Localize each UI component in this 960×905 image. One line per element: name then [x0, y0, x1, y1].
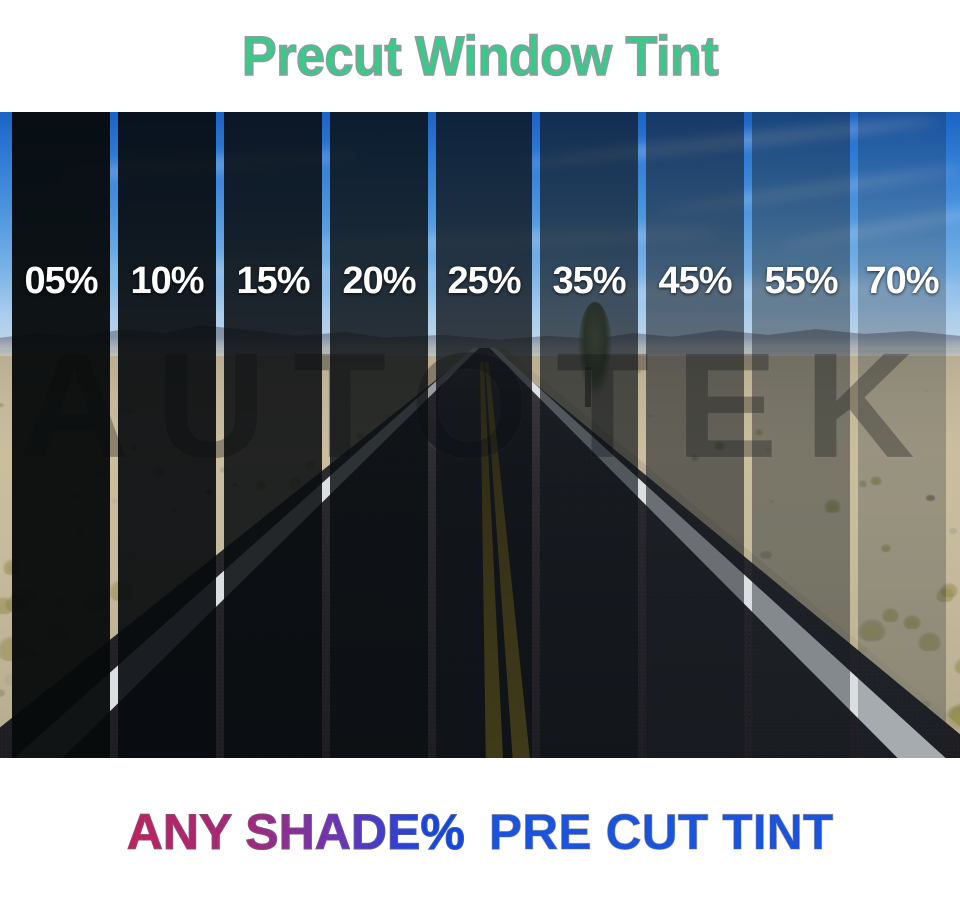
desert-scrub [859, 480, 867, 486]
desert-scrub [126, 408, 132, 413]
footer-banner: ANY SHADE%PRE CUT TINT [0, 758, 960, 905]
roadside-tree-trunk [585, 367, 591, 407]
desert-scrub [81, 592, 108, 613]
desert-scrub [255, 480, 268, 490]
desert-road-photo [0, 112, 960, 758]
footer-tagline: ANY SHADE%PRE CUT TINT [127, 807, 833, 857]
page-title: Precut Window Tint [242, 28, 718, 84]
desert-scrub [305, 461, 316, 470]
desert-scrub [755, 429, 762, 435]
desert-gravel [126, 552, 137, 559]
roadside-tree [578, 302, 612, 398]
desert-scrub [288, 477, 303, 489]
desert-gravel [172, 510, 177, 514]
desert-gravel [766, 448, 771, 452]
desert-scrub [870, 476, 882, 486]
desert-scrub [824, 499, 841, 512]
desert-scrub [918, 632, 941, 651]
desert-scrub [131, 445, 138, 450]
footer-pre-cut-text: PRE CUT TINT [471, 804, 833, 860]
tint-comparison-photo: AUTOTEK 05%10%15%20%25%35%45%55%70% [0, 112, 960, 758]
sky-layer [0, 112, 960, 350]
desert-scrub [882, 608, 899, 622]
desert-gravel [4, 674, 19, 685]
desert-scrub [5, 595, 26, 612]
desert-scrub [940, 583, 957, 597]
desert-scrub [75, 528, 85, 536]
desert-scrub [858, 619, 886, 642]
desert-scrub [0, 403, 4, 407]
desert-scrub [153, 467, 164, 475]
desert-scrub [954, 658, 960, 674]
desert-scrub [714, 441, 725, 450]
desert-gravel [30, 596, 40, 603]
desert-gravel [926, 495, 934, 501]
desert-scrub [47, 624, 70, 643]
desert-gravel [27, 649, 39, 657]
desert-scrub [637, 370, 641, 373]
desert-scrub [95, 468, 108, 479]
desert-gravel [220, 467, 227, 472]
desert-scrub [70, 490, 85, 502]
desert-scrub [55, 596, 67, 606]
desert-scrub [0, 636, 29, 661]
desert-gravel [205, 490, 212, 495]
footer-any-shade-text: ANY SHADE% [127, 804, 471, 860]
desert-gravel [232, 483, 238, 487]
desert-gravel [760, 551, 772, 559]
desert-scrub [881, 544, 891, 552]
desert-scrub [903, 615, 921, 630]
desert-scrub [691, 455, 699, 461]
desert-scrub [3, 559, 23, 575]
desert-gravel [769, 500, 774, 503]
desert-scrub [109, 580, 134, 600]
header-banner: Precut Window Tint [0, 0, 960, 112]
